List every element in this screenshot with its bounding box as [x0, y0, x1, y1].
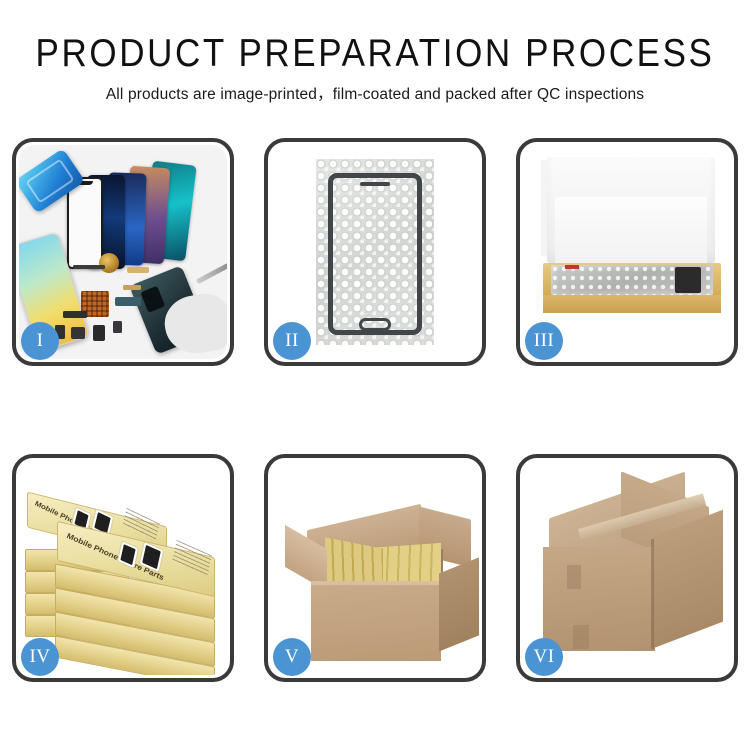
step-panel-1[interactable]: I	[12, 138, 234, 366]
step-panel-5[interactable]: V	[264, 454, 486, 682]
page-subtitle: All products are image-printed，film-coat…	[0, 82, 750, 104]
step-badge-3: III	[525, 322, 563, 360]
step-panel-6[interactable]: VI	[516, 454, 738, 682]
step-panel-3[interactable]: III	[516, 138, 738, 366]
step-badge-2: II	[273, 322, 311, 360]
step-badge-5: V	[273, 638, 311, 676]
page-header: PRODUCT PREPARATION PROCESS All products…	[0, 0, 750, 104]
step-panel-2[interactable]: II	[264, 138, 486, 366]
page-title: PRODUCT PREPARATION PROCESS	[0, 30, 750, 77]
step-badge-4: IV	[21, 638, 59, 676]
process-step-grid: I II III	[12, 138, 738, 682]
step-panel-4[interactable]: Mobile Phone Spare Parts Mobile Phone Sp…	[12, 454, 234, 682]
step-badge-6: VI	[525, 638, 563, 676]
step-badge-1: I	[21, 322, 59, 360]
